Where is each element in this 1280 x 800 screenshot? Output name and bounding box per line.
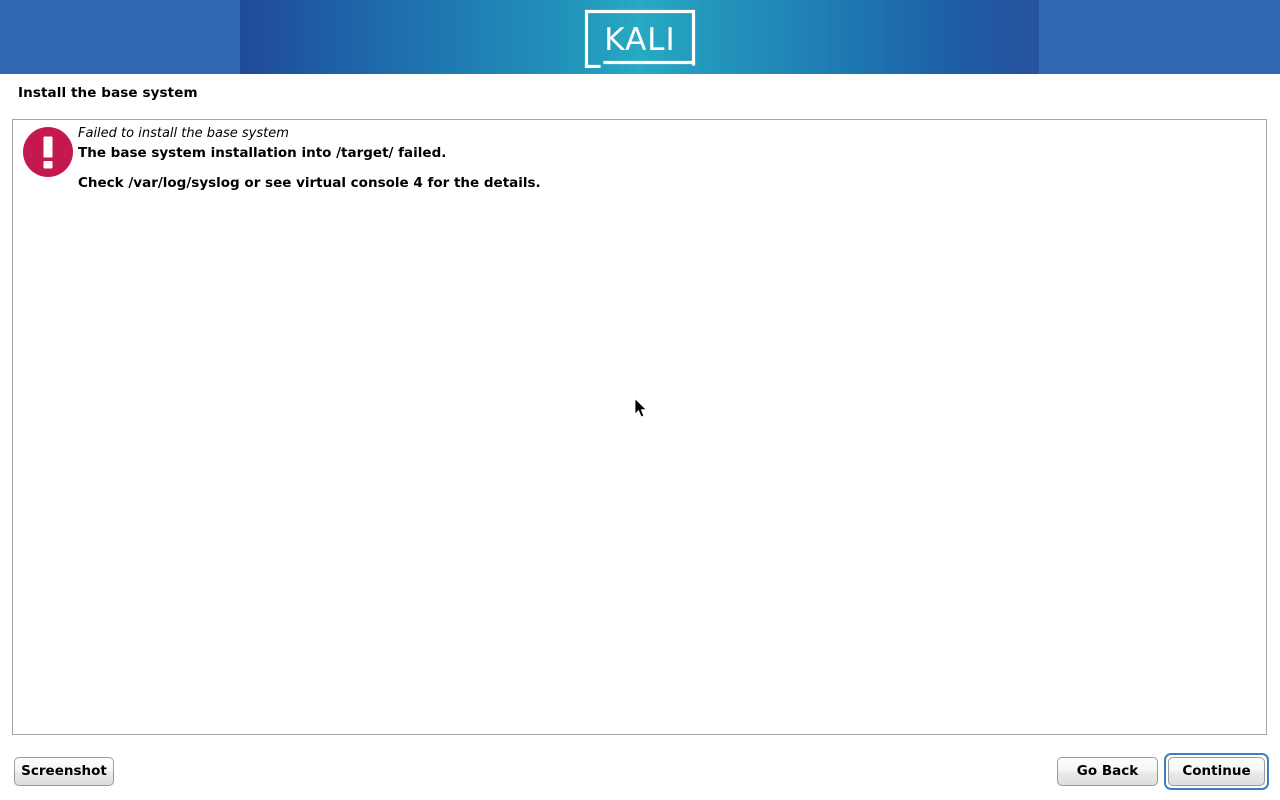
continue-button-focus-ring: Continue xyxy=(1164,753,1269,790)
kali-logo: KALI xyxy=(583,8,697,68)
installer-header-banner: KALI xyxy=(0,0,1280,74)
main-content-panel: Failed to install the base system The ba… xyxy=(12,119,1267,735)
page-title: Install the base system xyxy=(18,85,198,101)
go-back-button[interactable]: Go Back xyxy=(1057,757,1158,786)
error-message-block: Failed to install the base system The ba… xyxy=(13,120,1266,220)
error-secondary-text: Check /var/log/syslog or see virtual con… xyxy=(78,175,541,191)
screenshot-button[interactable]: Screenshot xyxy=(14,757,114,786)
error-subject: Failed to install the base system xyxy=(78,126,289,141)
error-exclamation-icon xyxy=(22,126,74,178)
error-primary-text: The base system installation into /targe… xyxy=(78,145,446,161)
continue-button[interactable]: Continue xyxy=(1168,757,1265,786)
svg-text:KALI: KALI xyxy=(604,22,675,58)
